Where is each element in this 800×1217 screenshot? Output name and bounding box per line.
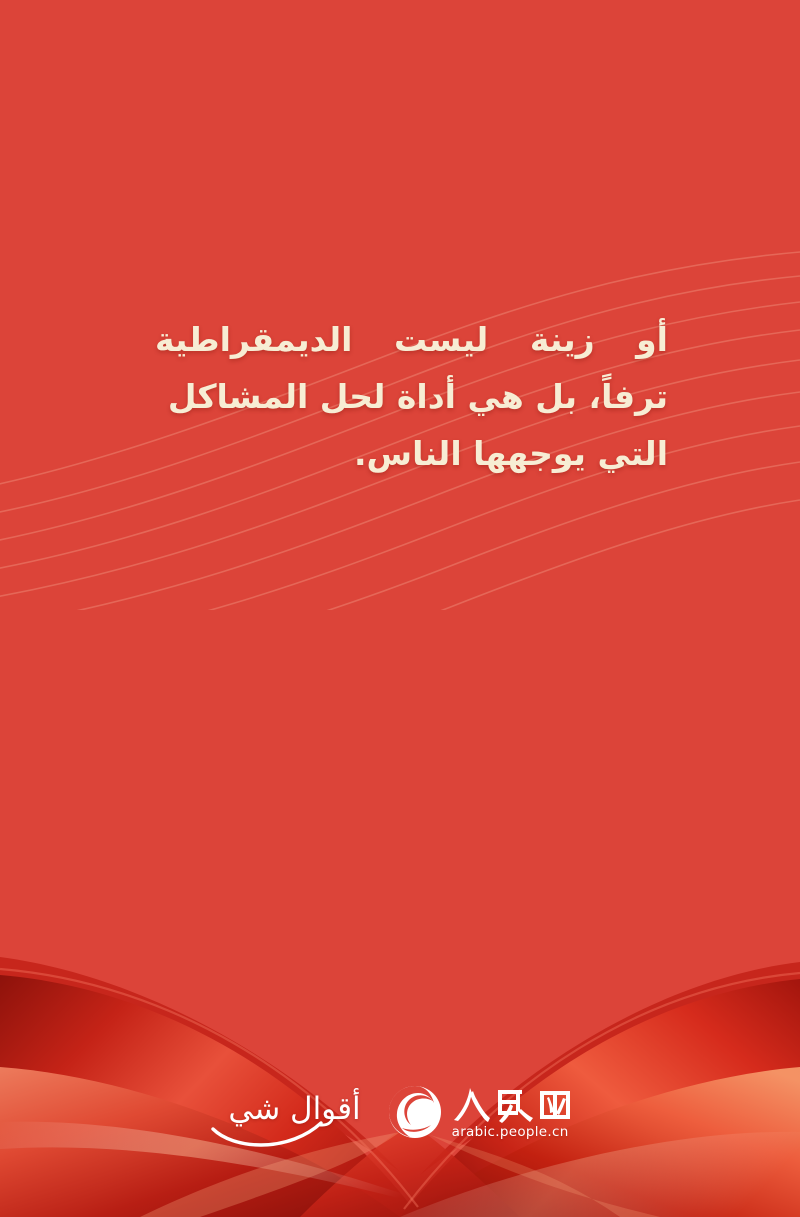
logo-url-text: arabic.people.cn bbox=[452, 1126, 569, 1140]
quote-word: زينة bbox=[530, 312, 595, 369]
calligraphy-swash-icon bbox=[211, 1121, 323, 1147]
quote-word: أو bbox=[636, 312, 668, 369]
people-cn-globe-logo-icon bbox=[387, 1084, 443, 1140]
people-cn-logo[interactable]: arabic.people.cn bbox=[387, 1084, 572, 1140]
renminwang-wordmark-cn bbox=[452, 1085, 572, 1123]
series-label-arabic: أقوال شي bbox=[228, 1094, 360, 1131]
logo-text-group: arabic.people.cn bbox=[452, 1085, 572, 1140]
quote-block: أو زينة ليست الديمقراطية ترفاً، بل هي أد… bbox=[155, 312, 668, 482]
quote-line-2: ترفاً، بل هي أداة لحل المشاكل bbox=[155, 369, 668, 426]
quote-word: ليست bbox=[394, 312, 488, 369]
quote-word: الديمقراطية bbox=[155, 312, 352, 369]
quote-line-3: التي يوجهها الناس. bbox=[155, 426, 668, 483]
quote-poster: أو زينة ليست الديمقراطية ترفاً، بل هي أد… bbox=[0, 0, 800, 1217]
quote-line-1: أو زينة ليست الديمقراطية bbox=[155, 312, 668, 369]
footer-brand-row: أقوال شي bbox=[0, 1067, 800, 1157]
